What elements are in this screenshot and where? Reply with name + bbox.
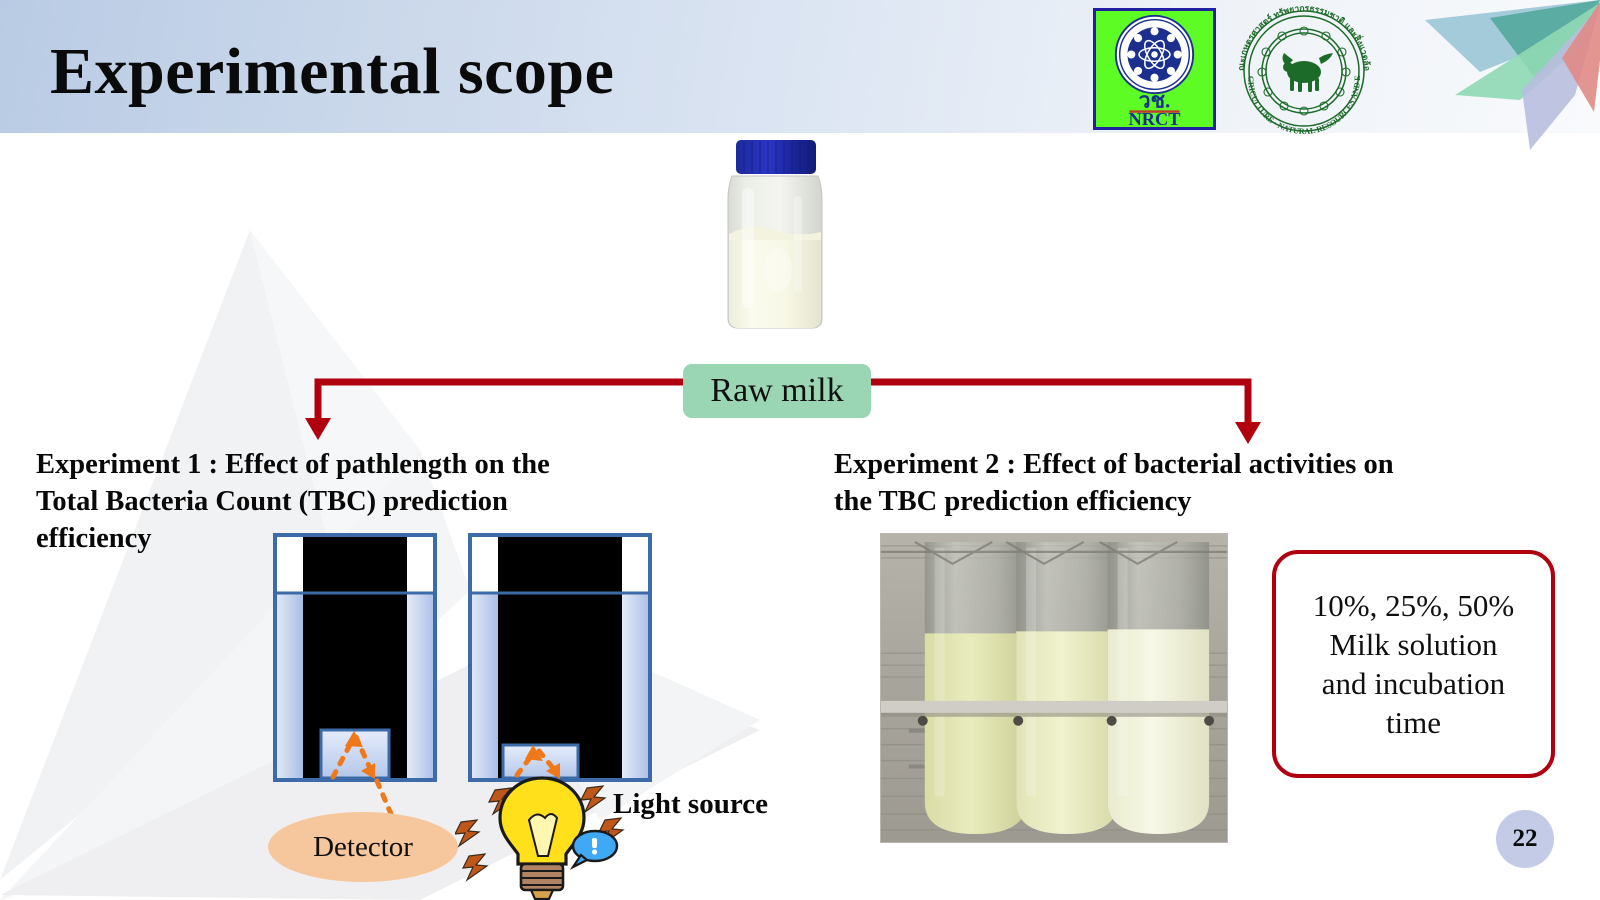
raw-milk-bottle-image <box>690 138 860 338</box>
nrct-logo-graphic: วช. NRCT <box>1096 11 1213 127</box>
detector-label: Detector <box>313 831 413 864</box>
faculty-seal-logo: คณะเกษตรศาสตร์ ทรัพยากรธรรมชาติ และสิ่งแ… <box>1222 6 1387 136</box>
detector-node: Detector <box>268 812 458 882</box>
callout-line-1: 10%, 25%, 50% <box>1313 586 1514 625</box>
experiment-1-line-2: Total Bacteria Count (TBC) prediction <box>36 483 676 520</box>
light-source-label: Light source <box>613 788 768 821</box>
callout-line-2: Milk solution <box>1313 625 1514 664</box>
slide-number: 22 <box>1513 825 1538 853</box>
arrowhead-right <box>1235 422 1261 444</box>
corner-decoration <box>1370 0 1600 150</box>
flow-connectors <box>0 340 1600 460</box>
nrct-logo: วช. NRCT <box>1093 8 1216 130</box>
slide-root: Experimental scope วช. NRCT <box>0 0 1600 900</box>
tube-10-percent <box>925 542 1026 834</box>
experiment-2-line-2: the TBC prediction efficiency <box>834 483 1459 520</box>
callout-line-4: time <box>1313 703 1514 742</box>
svg-text:NRCT: NRCT <box>1128 109 1180 127</box>
arrowhead-left <box>305 418 331 440</box>
light-bulb-icon <box>455 760 630 900</box>
tube-25-percent <box>1016 542 1117 834</box>
cuvette-right <box>470 535 650 780</box>
exclamation-bubble <box>573 831 617 867</box>
experiment-1-line-1: Experiment 1 : Effect of pathlength on t… <box>36 446 676 483</box>
callout-line-3: and incubation <box>1313 664 1514 703</box>
test-tubes-photo <box>880 533 1228 843</box>
tube-50-percent <box>1108 542 1209 834</box>
bulb-base <box>521 864 563 899</box>
page-title: Experimental scope <box>50 34 614 110</box>
experiment-2-line-1: Experiment 2 : Effect of bacterial activ… <box>834 446 1459 483</box>
experiment-2-heading: Experiment 2 : Effect of bacterial activ… <box>834 446 1459 520</box>
experiment-2-callout: 10%, 25%, 50% Milk solution and incubati… <box>1272 550 1555 778</box>
callout-text: 10%, 25%, 50% Milk solution and incubati… <box>1305 586 1522 742</box>
rack-front-bar <box>881 701 1227 713</box>
slide-number-badge: 22 <box>1496 810 1554 868</box>
